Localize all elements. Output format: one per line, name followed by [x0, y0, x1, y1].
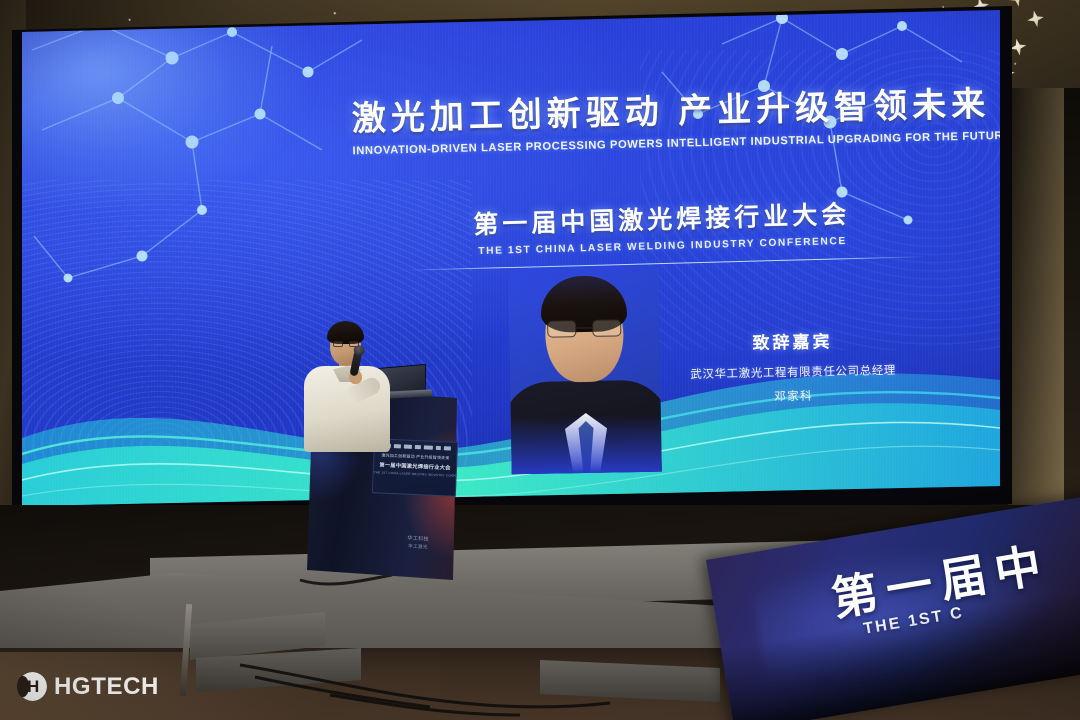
hgtech-watermark: H HGTECH [18, 672, 159, 701]
conference-photo-scene: 激光加工创新驱动 产业升级智领未来 INNOVATION-DRIVEN LASE… [0, 0, 1080, 720]
podium-mark-line2: 华工激光 [398, 543, 438, 551]
speaker-organization: 武汉华工激光工程有限责任公司总经理 [670, 361, 916, 382]
portrait-fade-overlay [508, 267, 662, 475]
led-screen: 激光加工创新驱动 产业升级智领未来 INNOVATION-DRIVEN LASE… [22, 10, 1000, 514]
main-title-block: 激光加工创新驱动 产业升级智领未来 INNOVATION-DRIVEN LASE… [351, 87, 972, 157]
conference-name-block: 第一届中国激光焊接行业大会 THE 1ST CHINA LASER WELDIN… [381, 192, 942, 260]
podium-panel-line3: THE 1ST CHINA LASER WELDING INDUSTRY CON… [374, 470, 456, 478]
podium-mark-line1: 华工科技 [398, 534, 438, 543]
speaker-role: 致辞嘉宾 [669, 325, 915, 355]
hgtech-logo-icon: H [18, 672, 47, 701]
speaker-caption: 致辞嘉宾 武汉华工激光工程有限责任公司总经理 邓家科 [669, 325, 917, 406]
hgtech-brand-text: HGTECH [54, 673, 159, 701]
podium-brand-mark: 华工科技 华工激光 [398, 534, 439, 554]
right-wall-trim [1064, 88, 1080, 558]
main-title-cn: 激光加工创新驱动 产业升级智领未来 [351, 87, 972, 138]
speaker-name: 邓家科 [670, 385, 916, 406]
title-divider-line [404, 256, 924, 271]
screen-text-layer: 激光加工创新驱动 产业升级智领未来 INNOVATION-DRIVEN LASE… [22, 10, 1000, 514]
